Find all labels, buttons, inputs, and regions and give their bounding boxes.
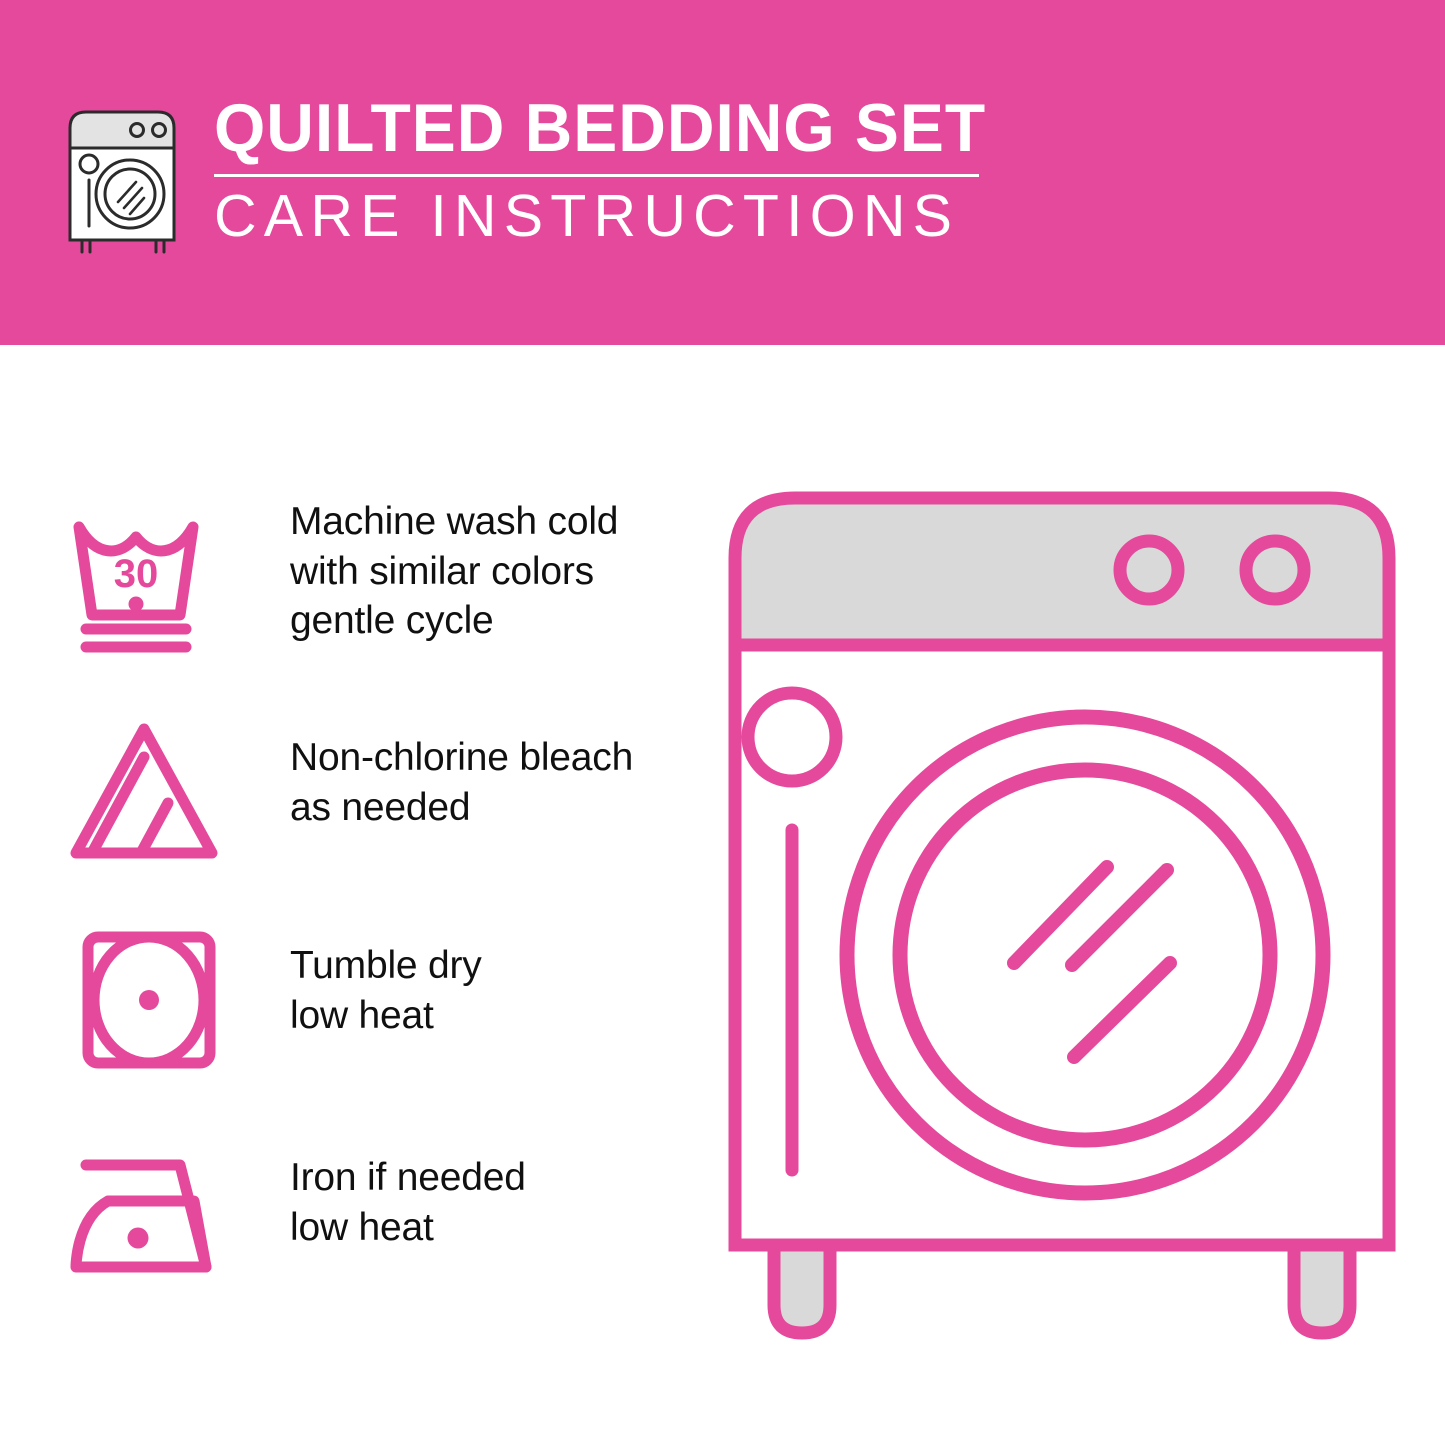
header-divider: [214, 174, 979, 177]
page-subtitle: CARE INSTRUCTIONS: [214, 187, 1010, 246]
care-line: gentle cycle: [290, 596, 618, 646]
care-line: with similar colors: [290, 547, 618, 597]
care-line: as needed: [290, 783, 633, 833]
care-instruction-item: Iron if needed low heat: [64, 1125, 684, 1335]
iron-heat-dot-icon: [128, 1228, 149, 1249]
care-line: Non-chlorine bleach: [290, 733, 633, 783]
care-instruction-item: Non-chlorine bleach as needed: [64, 705, 684, 915]
care-instruction-text: Iron if needed low heat: [290, 1125, 526, 1252]
wash-basin-30-icon: 30: [64, 495, 234, 659]
care-line: Iron if needed: [290, 1153, 526, 1203]
page-title: QUILTED BEDDING SET: [214, 96, 986, 161]
wash-temperature-label: 30: [114, 552, 159, 596]
care-instruction-item: 30 Machine wash cold with similar colors…: [64, 495, 684, 705]
care-instruction-text: Tumble dry low heat: [290, 915, 482, 1040]
tumble-dry-icon: [64, 915, 234, 1075]
care-line: Tumble dry: [290, 941, 482, 991]
dry-heat-dot-icon: [139, 990, 159, 1010]
washing-machine-icon: [60, 102, 184, 254]
care-instruction-text: Non-chlorine bleach as needed: [290, 705, 633, 832]
care-instruction-list: 30 Machine wash cold with similar colors…: [64, 495, 684, 1335]
care-instruction-text: Machine wash cold with similar colors ge…: [290, 495, 618, 646]
care-instruction-item: Tumble dry low heat: [64, 915, 684, 1125]
header-content: QUILTED BEDDING SET CARE INSTRUCTIONS: [60, 96, 1010, 254]
header-banner: QUILTED BEDDING SET CARE INSTRUCTIONS: [0, 0, 1445, 345]
iron-icon: [64, 1125, 234, 1289]
front-load-washing-machine-illustration: [722, 485, 1402, 1365]
bleach-triangle-icon: [64, 705, 234, 867]
care-line: Machine wash cold: [290, 497, 618, 547]
leg-left: [774, 1245, 830, 1333]
control-panel: [735, 498, 1389, 645]
header-titles: QUILTED BEDDING SET CARE INSTRUCTIONS: [214, 96, 1010, 246]
main-content: 30 Machine wash cold with similar colors…: [0, 345, 1445, 1445]
care-line: low heat: [290, 991, 482, 1041]
care-line: low heat: [290, 1203, 526, 1253]
leg-right: [1294, 1245, 1350, 1333]
wash-dot-icon: [129, 597, 144, 612]
